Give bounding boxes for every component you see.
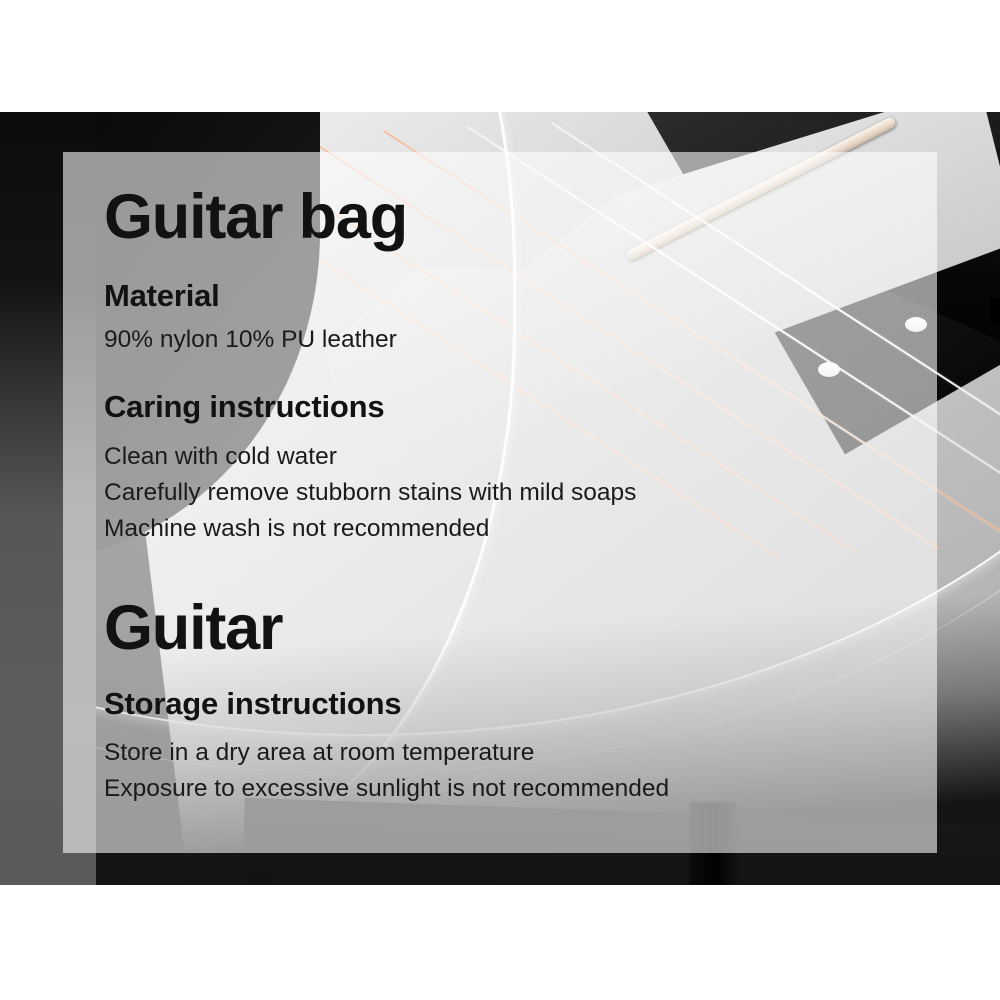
caring-instruction-line: Carefully remove stubborn stains with mi…: [104, 481, 636, 506]
material-value: 90% nylon 10% PU leather: [104, 328, 397, 353]
storage-instruction-line: Exposure to excessive sunlight is not re…: [104, 777, 669, 802]
heading-material: Material: [104, 280, 220, 311]
caring-instruction-line: Clean with cold water: [104, 445, 337, 470]
heading-storage-instructions: Storage instructions: [104, 688, 401, 719]
product-info-graphic: Guitar bag Material 90% nylon 10% PU lea…: [0, 0, 1000, 1000]
section-title-guitar-bag: Guitar bag: [104, 186, 407, 249]
storage-instruction-line: Store in a dry area at room temperature: [104, 741, 534, 766]
heading-caring-instructions: Caring instructions: [104, 391, 384, 422]
section-title-guitar: Guitar: [104, 597, 282, 660]
caring-instruction-line: Machine wash is not recommended: [104, 517, 489, 542]
